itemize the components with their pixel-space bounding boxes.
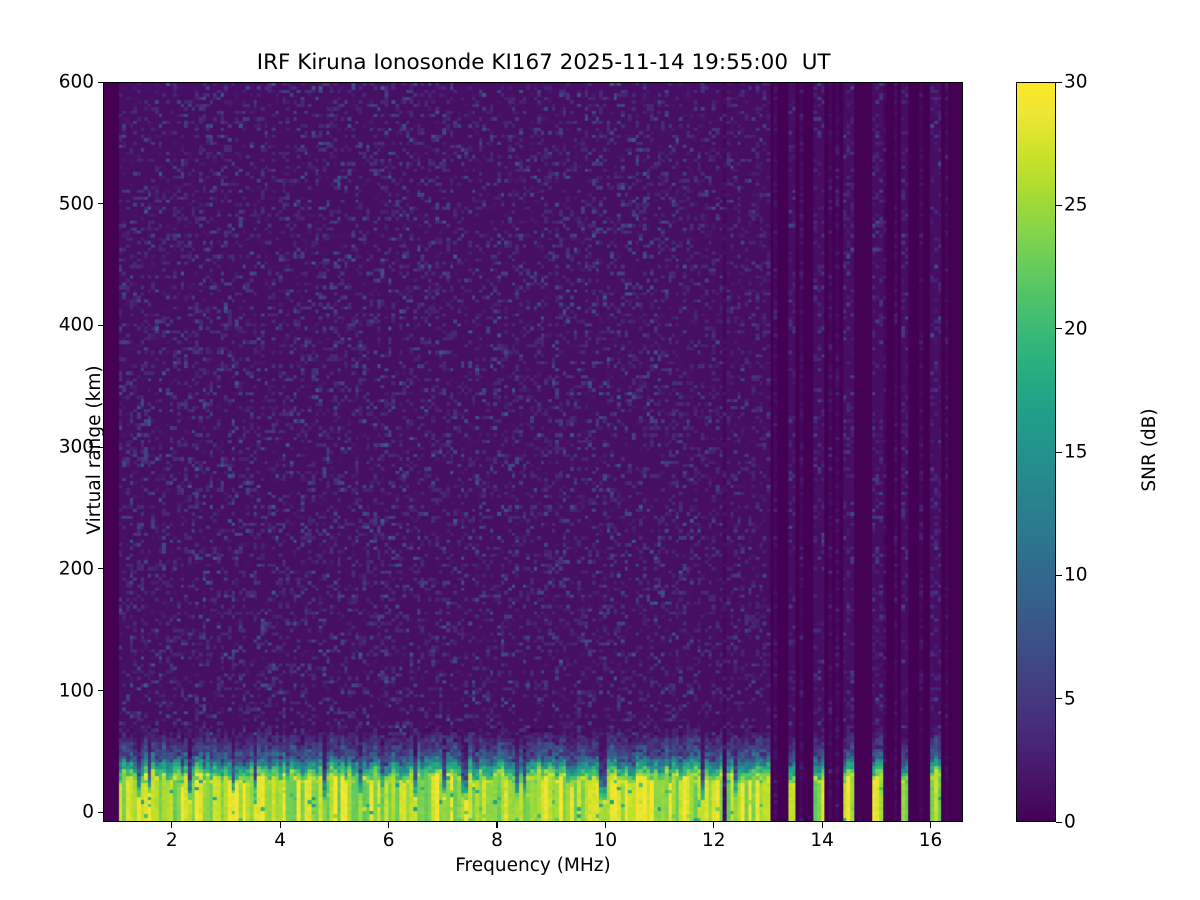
- ionogram-figure: IRF Kiruna Ionosonde KI167 2025-11-14 19…: [0, 0, 1200, 900]
- colorbar-tick-mark: [1056, 205, 1062, 206]
- colorbar-tick-mark: [1056, 698, 1062, 699]
- colorbar-tick-mark: [1056, 452, 1062, 453]
- colorbar-tick-label: 30: [1064, 72, 1088, 93]
- colorbar-tick-label: 5: [1064, 688, 1076, 709]
- colorbar-tick-label: 20: [1064, 318, 1088, 339]
- colorbar-tick-label: 25: [1064, 195, 1088, 216]
- colorbar-tick-mark: [1056, 822, 1062, 823]
- colorbar-label: SNR (dB): [1139, 408, 1160, 491]
- colorbar-tick-label: 10: [1064, 565, 1088, 586]
- colorbar-tick-mark: [1056, 575, 1062, 576]
- colorbar-tick-label: 0: [1064, 812, 1076, 833]
- colorbar-ticks: 051015202530: [0, 0, 1200, 900]
- colorbar-tick-label: 15: [1064, 442, 1088, 463]
- colorbar-tick-mark: [1056, 82, 1062, 83]
- colorbar-tick-mark: [1056, 328, 1062, 329]
